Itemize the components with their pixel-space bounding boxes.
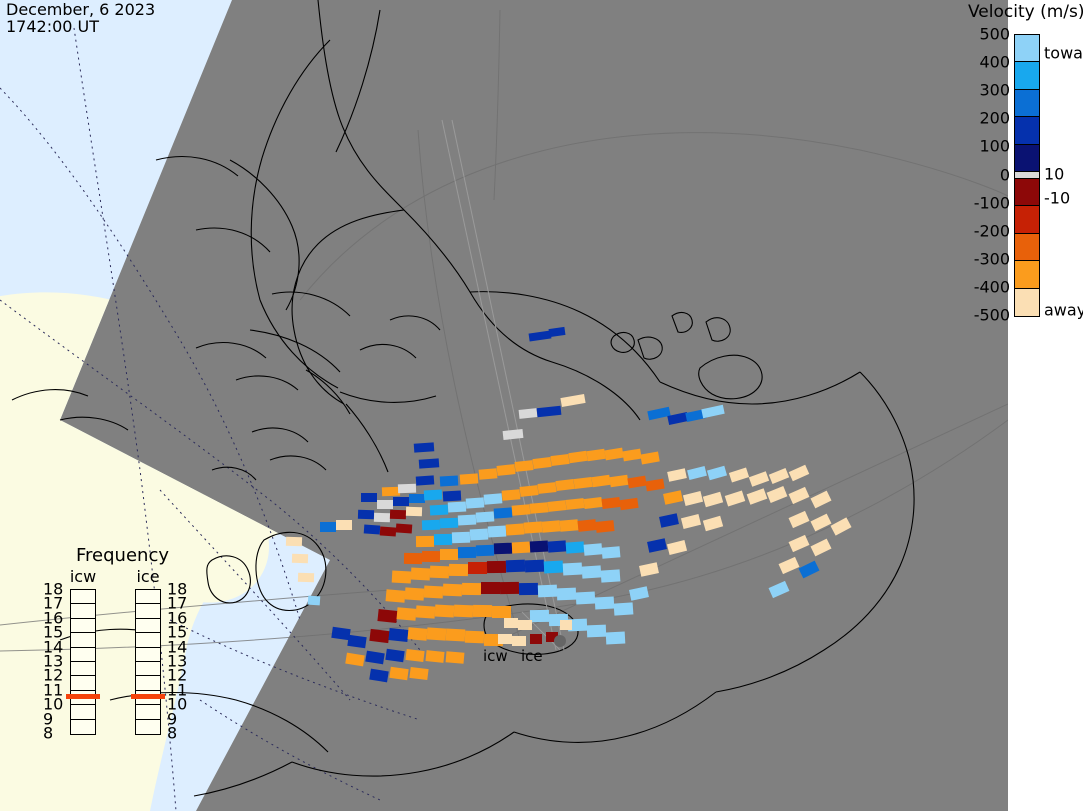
velocity-cell[interactable] xyxy=(364,524,381,534)
velocity-cell[interactable] xyxy=(584,543,603,556)
velocity-cell[interactable] xyxy=(361,493,377,502)
velocity-cell[interactable] xyxy=(476,511,495,522)
velocity-cell[interactable] xyxy=(454,605,473,618)
velocity-cell[interactable] xyxy=(479,468,498,480)
velocity-cell[interactable] xyxy=(409,667,428,680)
velocity-cell[interactable] xyxy=(566,541,585,553)
frequency-bar-segment xyxy=(71,633,95,647)
velocity-cell[interactable] xyxy=(446,629,466,642)
velocity-cell[interactable] xyxy=(515,460,534,472)
colorbar-tick-label: 200 xyxy=(964,109,1010,128)
frequency-bar-segment xyxy=(71,648,95,662)
frequency-bar-segment xyxy=(136,604,160,618)
radar-velocity-plot: icw ice December, 6 2023 1742:00 UT Velo… xyxy=(0,0,1083,811)
colorbar-tick-label: -400 xyxy=(964,277,1010,296)
frequency-legend-title: Frequency xyxy=(55,545,190,566)
velocity-cell[interactable] xyxy=(377,609,397,623)
velocity-cell[interactable] xyxy=(408,627,428,641)
colorbar-upper-inner-label: 10 xyxy=(1044,165,1064,184)
velocity-cell[interactable] xyxy=(476,545,494,557)
frequency-tick-label: 8 xyxy=(43,724,53,743)
velocity-cell[interactable] xyxy=(587,625,606,638)
velocity-cell[interactable] xyxy=(519,408,538,419)
velocity-cell[interactable] xyxy=(577,519,596,532)
frequency-bar-segment xyxy=(136,648,160,662)
velocity-cell[interactable] xyxy=(524,521,543,533)
velocity-cell[interactable] xyxy=(595,520,614,533)
velocity-cell[interactable] xyxy=(530,610,549,622)
velocity-cell[interactable] xyxy=(409,494,425,503)
velocity-cell[interactable] xyxy=(405,649,424,662)
velocity-cell[interactable] xyxy=(388,628,408,642)
frequency-bar-segment xyxy=(136,662,160,676)
colorbar-tick-label: 400 xyxy=(964,53,1010,72)
velocity-cell[interactable] xyxy=(416,475,435,485)
velocity-cell[interactable] xyxy=(392,571,412,584)
site-label-icw: icw xyxy=(483,647,508,665)
velocity-cell[interactable] xyxy=(487,561,506,573)
frequency-bar-segment xyxy=(136,720,160,734)
frequency-bar-segment xyxy=(71,590,95,604)
velocity-cell[interactable] xyxy=(500,582,519,594)
radar-site-marker[interactable] xyxy=(554,635,566,647)
velocity-cell[interactable] xyxy=(462,583,481,595)
frequency-bar-ice[interactable] xyxy=(135,589,161,735)
timestamp-text: December, 6 2023 1742:00 UT xyxy=(6,0,155,36)
velocity-cell[interactable] xyxy=(422,551,440,562)
velocity-cell[interactable] xyxy=(582,565,602,578)
velocity-cell[interactable] xyxy=(416,536,434,547)
velocity-cell[interactable] xyxy=(377,500,393,509)
velocity-cell[interactable] xyxy=(494,507,513,518)
frequency-bar-segment xyxy=(136,705,160,719)
velocity-cell[interactable] xyxy=(406,507,422,517)
velocity-cell[interactable] xyxy=(502,489,521,501)
velocity-cell[interactable] xyxy=(530,634,542,644)
velocity-cell[interactable] xyxy=(405,587,425,600)
velocity-cell[interactable] xyxy=(382,487,400,497)
velocity-cell[interactable] xyxy=(336,520,352,530)
velocity-cell[interactable] xyxy=(473,605,492,617)
velocity-cell[interactable] xyxy=(512,636,526,646)
frequency-tick-label: 8 xyxy=(167,724,177,743)
velocity-cell[interactable] xyxy=(286,537,302,547)
frequency-legend: Frequency icw ice 18171615141312111098 1… xyxy=(55,545,190,780)
colorbar-tick-label: 100 xyxy=(964,137,1010,156)
velocity-cell[interactable] xyxy=(443,584,462,597)
velocity-cell[interactable] xyxy=(416,605,436,618)
colorbar-tick-label: -300 xyxy=(964,249,1010,268)
frequency-bar-segment xyxy=(71,705,95,719)
velocity-cell[interactable] xyxy=(520,485,539,497)
velocity-cell[interactable] xyxy=(468,562,487,574)
colorbar-lower-inner-label: -10 xyxy=(1044,189,1070,208)
velocity-cell[interactable] xyxy=(292,554,308,564)
frequency-bar-icw[interactable] xyxy=(70,589,96,735)
velocity-cell[interactable] xyxy=(566,498,585,510)
timestamp: December, 6 2023 1742:00 UT xyxy=(6,1,155,35)
velocity-cell[interactable] xyxy=(440,518,458,529)
velocity-cell[interactable] xyxy=(427,627,447,640)
colorbar-tick-label: 500 xyxy=(964,25,1010,44)
velocity-cell[interactable] xyxy=(440,549,458,560)
velocity-cell[interactable] xyxy=(458,515,476,526)
velocity-cell[interactable] xyxy=(448,502,466,513)
velocity-cell[interactable] xyxy=(440,476,458,487)
velocity-cell[interactable] xyxy=(320,522,336,532)
velocity-cell[interactable] xyxy=(595,597,615,610)
velocity-cell[interactable] xyxy=(492,606,511,618)
frequency-bar-label-ice: ice xyxy=(126,567,170,586)
velocity-cell[interactable] xyxy=(538,482,557,494)
velocity-cell[interactable] xyxy=(397,607,417,621)
velocity-cell[interactable] xyxy=(404,553,422,564)
velocity-cell[interactable] xyxy=(470,529,489,541)
velocity-cell[interactable] xyxy=(435,605,455,618)
velocity-cell[interactable] xyxy=(466,497,485,508)
colorbar-segment xyxy=(1015,145,1039,172)
velocity-cell[interactable] xyxy=(424,490,442,501)
colorbar-segment xyxy=(1015,90,1039,117)
velocity-cell[interactable] xyxy=(497,464,516,476)
frequency-bar-segment xyxy=(71,604,95,618)
velocity-cell[interactable] xyxy=(424,586,444,599)
velocity-cell[interactable] xyxy=(298,573,314,583)
velocity-cell[interactable] xyxy=(465,631,484,644)
velocity-cell[interactable] xyxy=(542,520,561,533)
colorbar-segment xyxy=(1015,179,1039,206)
frequency-bar-segment xyxy=(71,676,95,690)
velocity-cell[interactable] xyxy=(601,569,621,582)
velocity-cell[interactable] xyxy=(525,560,544,573)
velocity-cell[interactable] xyxy=(380,526,397,536)
velocity-cell[interactable] xyxy=(430,566,449,579)
velocity-cell[interactable] xyxy=(398,484,416,494)
velocity-cell[interactable] xyxy=(557,588,576,601)
velocity-cell[interactable] xyxy=(560,620,572,630)
velocity-cell[interactable] xyxy=(560,519,579,532)
velocity-cell[interactable] xyxy=(358,510,374,520)
velocity-cell[interactable] xyxy=(414,442,435,452)
velocity-cell[interactable] xyxy=(488,526,507,538)
frequency-bar-label-icw: icw xyxy=(61,567,105,586)
velocity-cell[interactable] xyxy=(411,568,431,581)
frequency-bar-segment xyxy=(136,590,160,604)
frequency-current-marker xyxy=(66,694,100,699)
velocity-cell[interactable] xyxy=(369,629,389,643)
colorbar-segment xyxy=(1015,35,1039,62)
velocity-cell[interactable] xyxy=(548,500,567,512)
colorbar-tick-label: 300 xyxy=(964,81,1010,100)
frequency-bar-segment xyxy=(71,662,95,676)
velocity-cell[interactable] xyxy=(602,546,621,559)
site-label-ice: ice xyxy=(521,647,543,665)
frequency-bar-segment xyxy=(136,633,160,647)
colorbar-tick-label: -200 xyxy=(964,221,1010,240)
velocity-cell[interactable] xyxy=(452,532,470,544)
colorbar-segment xyxy=(1015,234,1039,261)
velocity-cell[interactable] xyxy=(434,534,452,545)
velocity-cell[interactable] xyxy=(422,520,440,531)
velocity-cell[interactable] xyxy=(458,547,476,558)
velocity-cell[interactable] xyxy=(390,510,406,520)
colorbar-segment xyxy=(1015,289,1039,316)
velocity-cell[interactable] xyxy=(481,582,500,594)
velocity-cell[interactable] xyxy=(498,634,512,644)
velocity-cell[interactable] xyxy=(506,523,525,535)
velocity-cell[interactable] xyxy=(538,585,557,598)
velocity-cell[interactable] xyxy=(512,504,531,516)
frequency-bar-segment xyxy=(71,720,95,734)
frequency-bar-segment xyxy=(136,676,160,690)
frequency-current-marker xyxy=(131,694,165,699)
velocity-cell[interactable] xyxy=(494,543,512,555)
velocity-cell[interactable] xyxy=(484,493,503,505)
velocity-cell[interactable] xyxy=(386,589,406,603)
velocity-cell[interactable] xyxy=(563,563,583,576)
frequency-bar-segment xyxy=(136,619,160,633)
colorbar-away-label: away xyxy=(1044,301,1083,320)
colorbar-tick-label: 0 xyxy=(964,165,1010,184)
colorbar-tick-label: -500 xyxy=(964,306,1010,325)
velocity-cell[interactable] xyxy=(449,564,468,576)
velocity-cell[interactable] xyxy=(504,618,518,628)
velocity-cell[interactable] xyxy=(512,542,531,554)
velocity-cell[interactable] xyxy=(393,497,409,506)
velocity-cell[interactable] xyxy=(606,632,626,645)
colorbar-segment xyxy=(1015,62,1039,89)
velocity-cell[interactable] xyxy=(460,473,479,484)
colorbar[interactable] xyxy=(1014,34,1040,317)
colorbar-segment xyxy=(1015,261,1039,288)
velocity-cell[interactable] xyxy=(374,513,390,523)
colorbar-segment xyxy=(1015,206,1039,233)
velocity-cell[interactable] xyxy=(518,620,532,630)
velocity-cell[interactable] xyxy=(430,505,448,516)
velocity-cell[interactable] xyxy=(530,502,549,514)
velocity-cell[interactable] xyxy=(506,560,525,573)
velocity-cell[interactable] xyxy=(614,602,634,615)
colorbar-segment xyxy=(1015,117,1039,144)
colorbar-ticks: 5004003002001000-100-200-300-400-500 xyxy=(960,0,1010,811)
velocity-cell[interactable] xyxy=(419,458,440,468)
colorbar-toward-label: toward xyxy=(1044,44,1083,63)
velocity-cell[interactable] xyxy=(443,491,461,502)
colorbar-segment xyxy=(1015,172,1039,179)
frequency-bar-segment xyxy=(71,619,95,633)
velocity-cell[interactable] xyxy=(308,596,321,606)
velocity-cell[interactable] xyxy=(446,651,465,664)
velocity-cell[interactable] xyxy=(530,541,549,553)
velocity-cell[interactable] xyxy=(548,540,567,552)
velocity-cell[interactable] xyxy=(396,523,413,533)
velocity-cell[interactable] xyxy=(425,650,444,663)
colorbar-tick-label: -100 xyxy=(964,193,1010,212)
velocity-cell[interactable] xyxy=(544,561,564,574)
velocity-cell[interactable] xyxy=(519,583,538,595)
velocity-cell[interactable] xyxy=(576,592,596,605)
